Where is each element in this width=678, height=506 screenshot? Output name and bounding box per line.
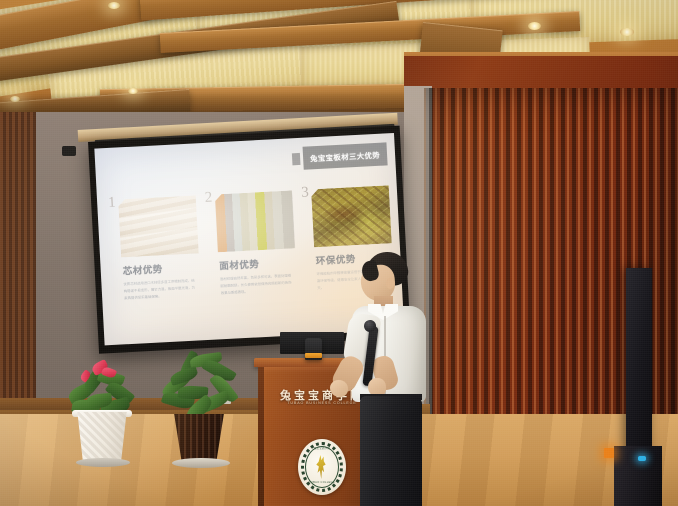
column-loudspeaker bbox=[626, 268, 652, 466]
black-orange-control-device[interactable] bbox=[305, 338, 322, 360]
presenter-hand-gesturing bbox=[330, 380, 348, 397]
ceiling-downlight bbox=[620, 28, 634, 36]
plywood-core-stack-image bbox=[118, 195, 199, 257]
pot-saucer bbox=[76, 458, 130, 467]
wall-sensor-device bbox=[62, 146, 76, 156]
device-indicator-band bbox=[305, 353, 322, 358]
dark-plant-pot bbox=[172, 414, 226, 462]
amplifier-indicator-light bbox=[604, 448, 614, 458]
flowering-plant-white-woven-pot bbox=[62, 356, 146, 468]
presenter-ear bbox=[386, 278, 394, 289]
speaker-power-led bbox=[638, 456, 646, 461]
veneer-color-stripes-image bbox=[215, 190, 296, 252]
pot-saucer bbox=[172, 458, 230, 468]
card-label: 面材优势 bbox=[219, 254, 296, 272]
slide-title-bar: 兔宝宝板材三大优势 bbox=[302, 142, 387, 169]
card-number: 2 bbox=[204, 191, 212, 206]
natural-wood-texture-image bbox=[311, 185, 392, 247]
ceiling-downlight bbox=[108, 2, 120, 9]
slide-title-group: 兔宝宝板材三大优势 bbox=[291, 142, 387, 170]
left-wall-slats bbox=[0, 112, 36, 412]
loudspeaker-base-cabinet bbox=[614, 446, 662, 506]
presenter-trousers bbox=[360, 396, 422, 506]
white-woven-pot bbox=[74, 412, 130, 462]
card-number: 3 bbox=[301, 186, 309, 201]
green-leafy-plant-dark-pot bbox=[156, 350, 246, 470]
slide-card: 1 芯材优势 优质芯材选用进口木材经多道工序精制而成，结构稳定不易变形，握钉力强… bbox=[107, 195, 201, 303]
card-number: 1 bbox=[108, 196, 116, 211]
slide-title: 兔宝宝板材三大优势 bbox=[310, 151, 380, 164]
title-accent-tab bbox=[292, 152, 301, 164]
podium-side-edge bbox=[258, 367, 264, 506]
card-label: 芯材优势 bbox=[122, 259, 199, 277]
male-presenter-white-shirt-with-microphone bbox=[330, 252, 440, 506]
card-body-text: 面材纹理自然丰富，色彩多样可选，表面处理细腻耐磨耐刮，长久使用依然保持亮丽如新的… bbox=[220, 272, 298, 297]
card-body-text: 优质芯材选用进口木材经多道工序精制而成，结构稳定不易变形，握钉力强，板面平整光滑… bbox=[123, 277, 201, 302]
slide-card: 2 面材优势 面材纹理自然丰富，色彩多样可选，表面处理细腻耐磨耐刮，长久使用依然… bbox=[204, 190, 298, 298]
lecture-hall-photo: 兔宝宝板材三大优势 1 芯材优势 优质芯材选用进口木材经多道工序精制而成，结构稳… bbox=[0, 0, 678, 506]
ceiling-downlight bbox=[528, 22, 541, 30]
